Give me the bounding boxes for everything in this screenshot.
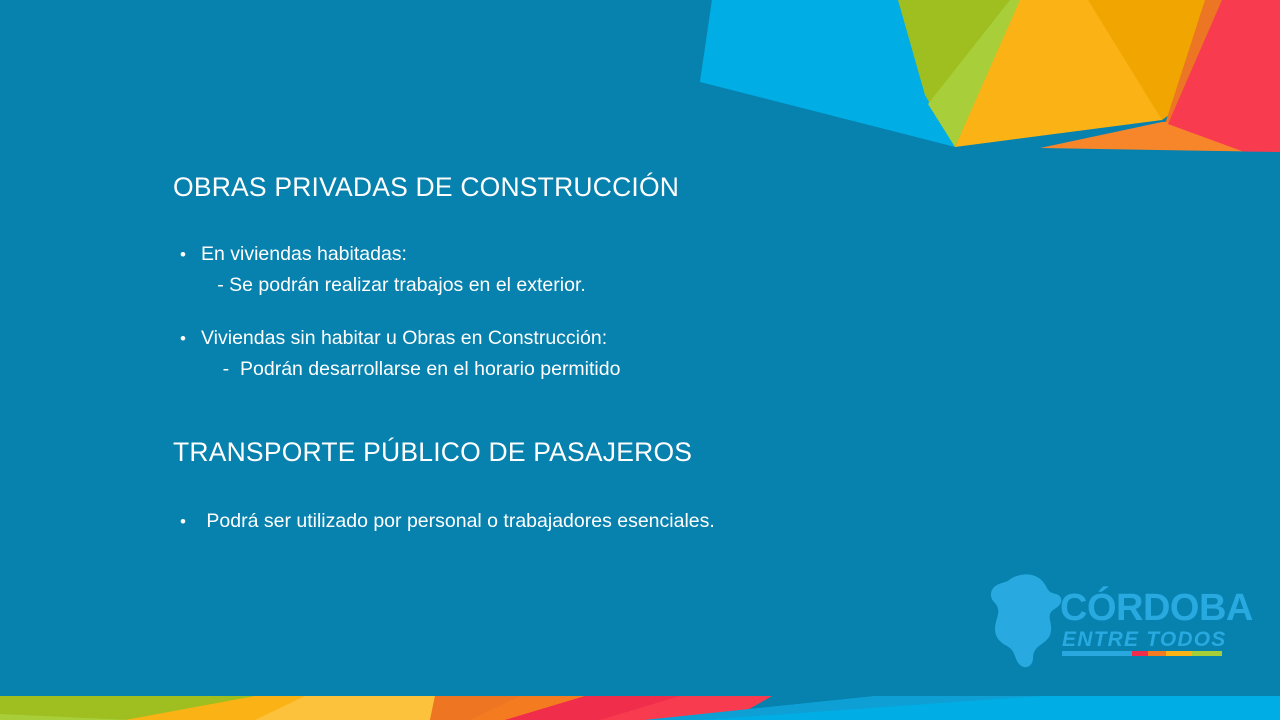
strip-orange xyxy=(430,696,585,720)
list-item: • Viviendas sin habitar u Obras en Const… xyxy=(173,323,993,385)
strip-cyan-dark xyxy=(645,696,1040,720)
bullet-subline: - Se podrán realizar trabajos en el exte… xyxy=(201,270,993,301)
deco-blue-base xyxy=(930,148,1280,165)
deco-cyan-triangle xyxy=(700,0,962,147)
slide-body: OBRAS PRIVADAS DE CONSTRUCCIÓN • En vivi… xyxy=(173,172,993,537)
bullet-dot-icon: • xyxy=(173,323,201,354)
section-obras: OBRAS PRIVADAS DE CONSTRUCCIÓN • En vivi… xyxy=(173,172,993,385)
deco-yellow-large xyxy=(955,0,1192,147)
strip-yellow-light xyxy=(255,696,435,720)
strip-cyan xyxy=(645,696,1280,720)
bullet-dot-icon: • xyxy=(173,506,201,537)
bullet-dot-icon: • xyxy=(173,239,201,270)
section-transporte: TRANSPORTE PÚBLICO DE PASAJEROS • Podrá … xyxy=(173,437,993,536)
strip-green xyxy=(0,696,255,720)
strip-green-dark xyxy=(0,696,255,720)
deco-yellow-dark xyxy=(1088,0,1262,120)
deco-orange-dark xyxy=(1165,0,1280,124)
strip-red xyxy=(505,696,772,720)
slide-canvas: OBRAS PRIVADAS DE CONSTRUCCIÓN • En vivi… xyxy=(0,0,1280,720)
section-heading-transporte: TRANSPORTE PÚBLICO DE PASAJEROS xyxy=(173,437,993,467)
list-item: • En viviendas habitadas: - Se podrán re… xyxy=(173,239,993,301)
bullet-text: Viviendas sin habitar u Obras en Constru… xyxy=(201,323,993,354)
bullet-list-transporte: • Podrá ser utilizado por personal o tra… xyxy=(173,506,993,537)
logo-accent-bar xyxy=(1062,651,1222,656)
deco-cyan-sheet xyxy=(700,0,1280,82)
bullet-subline: - Podrán desarrollarse en el horario per… xyxy=(201,354,993,385)
bottom-geometric-strip xyxy=(0,696,1280,720)
bullet-text: En viviendas habitadas: xyxy=(201,239,993,270)
deco-bright-green xyxy=(928,0,1022,147)
strip-orange-dark xyxy=(430,696,520,720)
bullet-list-obras: • En viviendas habitadas: - Se podrán re… xyxy=(173,239,993,385)
cordoba-province-silhouette-icon xyxy=(991,574,1061,667)
top-right-geometric-decoration xyxy=(700,0,1280,165)
deco-orange-light xyxy=(1040,118,1280,152)
strip-yellow xyxy=(125,696,435,720)
logo-wordmark: CÓRDOBA xyxy=(1060,585,1253,629)
list-item: • Podrá ser utilizado por personal o tra… xyxy=(173,506,993,537)
list-spacer xyxy=(173,301,993,323)
deco-red-wedge xyxy=(1168,0,1280,165)
deco-olive-green xyxy=(898,0,1016,147)
bullet-text: Podrá ser utilizado por personal o traba… xyxy=(201,506,993,537)
logo-tagline: ENTRE TODOS xyxy=(1062,628,1227,651)
strip-red-dark xyxy=(505,696,680,720)
cordoba-entre-todos-logo: CÓRDOBA ENTRE TODOS xyxy=(986,572,1254,672)
section-heading-obras: OBRAS PRIVADAS DE CONSTRUCCIÓN xyxy=(173,172,993,202)
